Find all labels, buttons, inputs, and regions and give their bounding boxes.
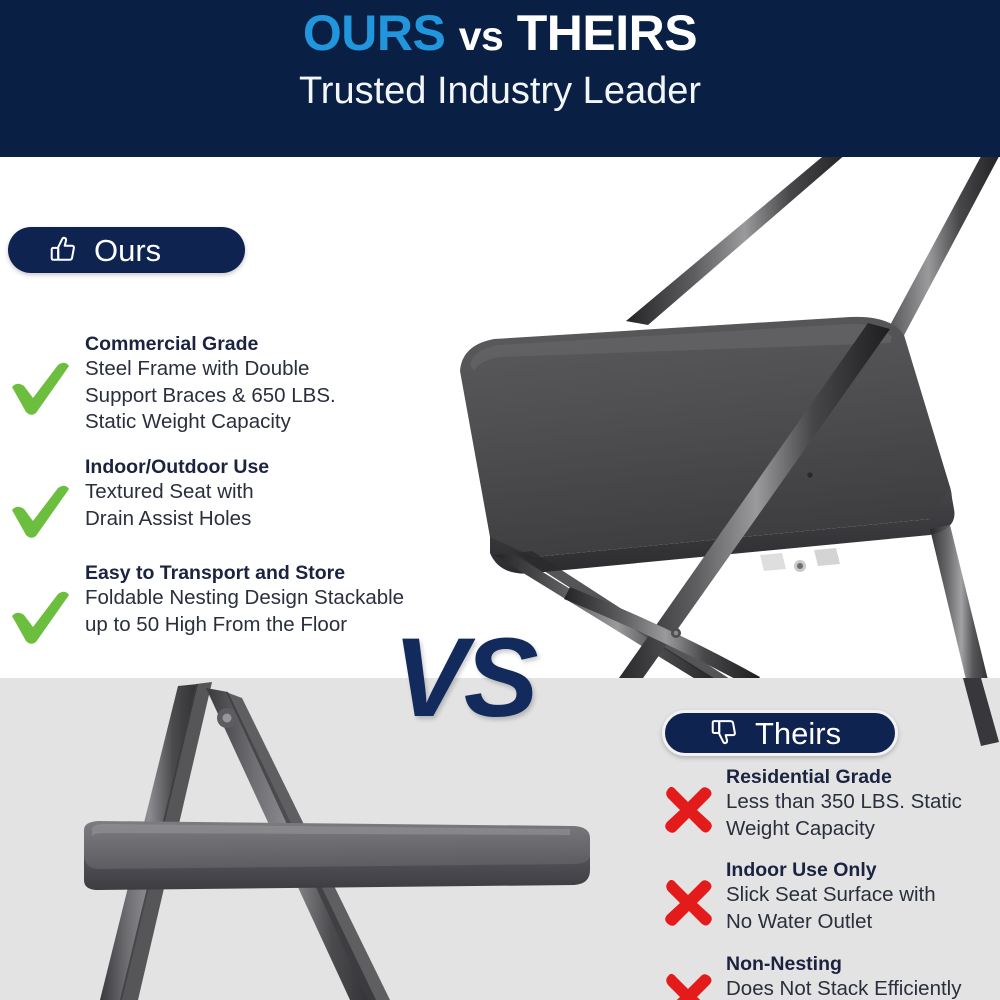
feature-text: Non-Nesting Does Not Stack Efficiently bbox=[726, 953, 1000, 1000]
title-theirs-word: THEIRS bbox=[517, 5, 697, 61]
title-vs-word: vs bbox=[459, 13, 504, 59]
ours-badge: Ours bbox=[8, 227, 245, 273]
feature-body-line: Less than 350 LBS. Static bbox=[726, 789, 1000, 816]
feature-heading: Residential Grade bbox=[726, 766, 1000, 789]
page-title: OURS vs THEIRS bbox=[0, 8, 1000, 58]
feature-body-line: Support Braces & 650 LBS. bbox=[85, 383, 470, 410]
infographic-canvas: OURS vs THEIRS Trusted Industry Leader bbox=[0, 0, 1000, 1000]
feature-heading: Indoor/Outdoor Use bbox=[85, 456, 470, 479]
theirs-badge-label: Theirs bbox=[755, 718, 841, 749]
thumbs-down-icon bbox=[707, 716, 741, 750]
green-check-icon bbox=[8, 480, 72, 542]
list-item: Residential Grade Less than 350 LBS. Sta… bbox=[650, 766, 1000, 842]
feature-body-line: Weight Capacity bbox=[726, 816, 1000, 843]
feature-text: Indoor Use Only Slick Seat Surface with … bbox=[726, 859, 1000, 935]
feature-body-line: Drain Assist Holes bbox=[85, 506, 470, 533]
ours-badge-label: Ours bbox=[94, 235, 161, 266]
feature-heading: Non-Nesting bbox=[726, 953, 1000, 976]
title-ours-word: OURS bbox=[303, 5, 445, 61]
feature-heading: Indoor Use Only bbox=[726, 859, 1000, 882]
list-item: Indoor Use Only Slick Seat Surface with … bbox=[650, 859, 1000, 935]
thumbs-up-icon bbox=[46, 233, 80, 267]
header-banner: OURS vs THEIRS Trusted Industry Leader bbox=[0, 0, 1000, 157]
feature-body-line: No Water Outlet bbox=[726, 909, 1000, 936]
page-subtitle: Trusted Industry Leader bbox=[0, 70, 1000, 114]
theirs-feature-list: Residential Grade Less than 350 LBS. Sta… bbox=[650, 766, 1000, 1000]
feature-body-line: Foldable Nesting Design Stackable bbox=[85, 585, 470, 612]
feature-heading: Commercial Grade bbox=[85, 333, 470, 356]
green-check-icon bbox=[8, 586, 72, 648]
feature-heading: Easy to Transport and Store bbox=[85, 562, 470, 585]
feature-body-line: Slick Seat Surface with bbox=[726, 882, 1000, 909]
feature-body-line: Static Weight Capacity bbox=[85, 409, 470, 436]
vs-divider-label: VS bbox=[393, 622, 534, 734]
feature-body-line: Steel Frame with Double bbox=[85, 356, 470, 383]
feature-text: Indoor/Outdoor Use Textured Seat with Dr… bbox=[85, 456, 470, 532]
red-x-icon bbox=[660, 877, 716, 929]
feature-text: Residential Grade Less than 350 LBS. Sta… bbox=[726, 766, 1000, 842]
feature-text: Commercial Grade Steel Frame with Double… bbox=[85, 333, 470, 436]
feature-body-line: Does Not Stack Efficiently bbox=[726, 976, 1000, 1000]
green-check-icon bbox=[8, 357, 72, 419]
theirs-badge: Theirs bbox=[662, 710, 898, 756]
list-item: Commercial Grade Steel Frame with Double… bbox=[0, 333, 470, 436]
list-item: Non-Nesting Does Not Stack Efficiently bbox=[650, 953, 1000, 1000]
red-x-icon bbox=[660, 784, 716, 836]
feature-body-line: Textured Seat with bbox=[85, 479, 470, 506]
list-item: Indoor/Outdoor Use Textured Seat with Dr… bbox=[0, 456, 470, 542]
red-x-icon bbox=[660, 971, 716, 1000]
